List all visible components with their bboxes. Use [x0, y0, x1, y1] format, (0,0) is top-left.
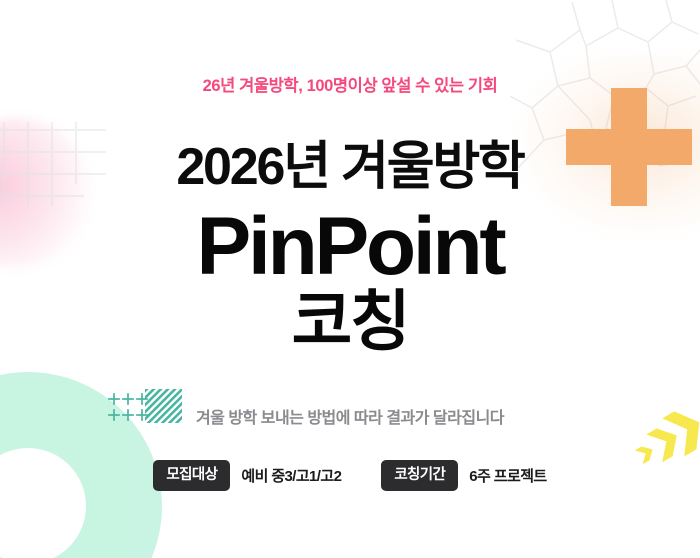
detail-chip-target-value: 예비 중3/고1/고2 [241, 465, 341, 486]
status-badge: 코칭기간 [381, 460, 458, 492]
detail-chip-period: 코칭기간 6주 프로젝트 [381, 460, 546, 492]
detail-chip-row: 모집대상 예비 중3/고1/고2 코칭기간 6주 프로젝트 [153, 460, 546, 492]
promo-tagline: 26년 겨울방학, 100명이상 앞설 수 있는 기회 [203, 72, 498, 96]
brand-wordmark: PinPoint [197, 205, 504, 289]
banner-content: 26년 겨울방학, 100명이상 앞설 수 있는 기회 2026년 겨울방학 P… [0, 0, 700, 558]
banner-subtitle: 겨울 방학 보내는 방법에 따라 결과가 달라집니다 [196, 404, 504, 428]
detail-chip-target: 모집대상 예비 중3/고1/고2 [153, 460, 341, 492]
brand-wordmark-subtitle: 코칭 [292, 287, 409, 356]
page-title: 2026년 겨울방학 [176, 141, 523, 193]
status-badge: 모집대상 [153, 460, 230, 492]
detail-chip-period-value: 6주 프로젝트 [469, 465, 546, 486]
promo-banner: 26년 겨울방학, 100명이상 앞설 수 있는 기회 2026년 겨울방학 P… [0, 0, 700, 558]
